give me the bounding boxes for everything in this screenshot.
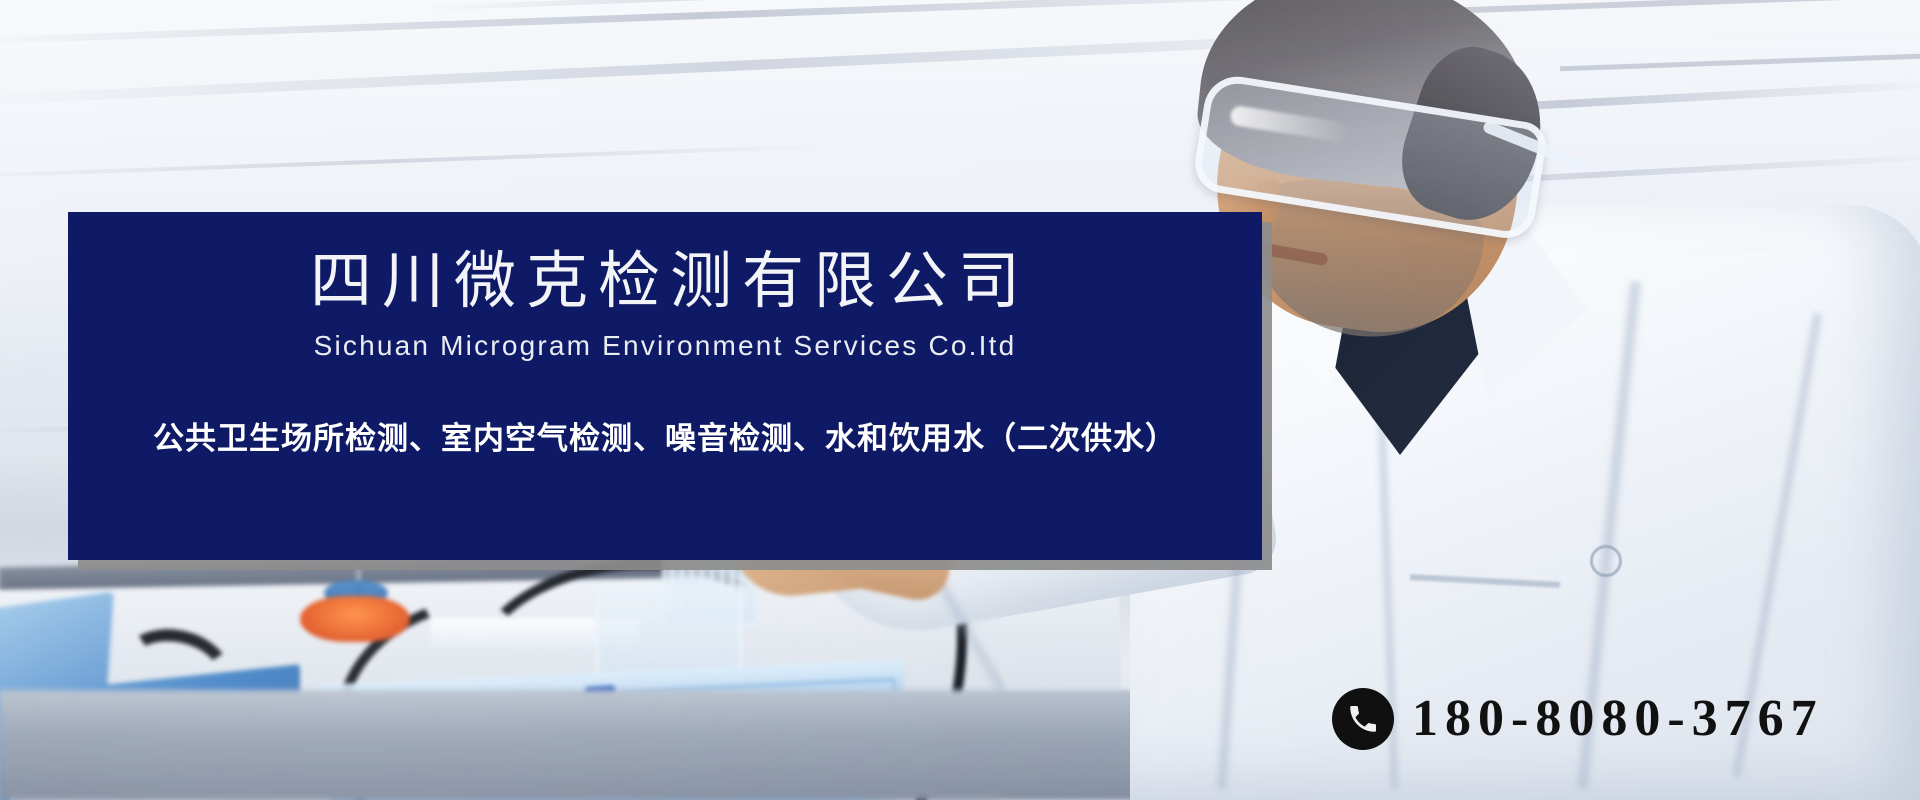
contact-phone-block[interactable]: 180-8080-3767 [1332,688,1824,750]
services-tagline: 公共卫生场所检测、室内空气检测、噪音检测、水和饮用水（二次供水） [153,419,1177,459]
coat-logo [1590,545,1622,577]
headline-panel: 四川微克检测有限公司 Sichuan Microgram Environment… [68,212,1262,560]
company-name-english: Sichuan Microgram Environment Services C… [314,329,1017,363]
company-hero-banner: 四川微克检测有限公司 Sichuan Microgram Environment… [0,0,1920,800]
phone-handset-icon [1332,688,1394,750]
phone-number-text: 180-8080-3767 [1412,693,1824,745]
heating-mantle [300,596,410,642]
company-name-chinese: 四川微克检测有限公司 [300,246,1030,315]
